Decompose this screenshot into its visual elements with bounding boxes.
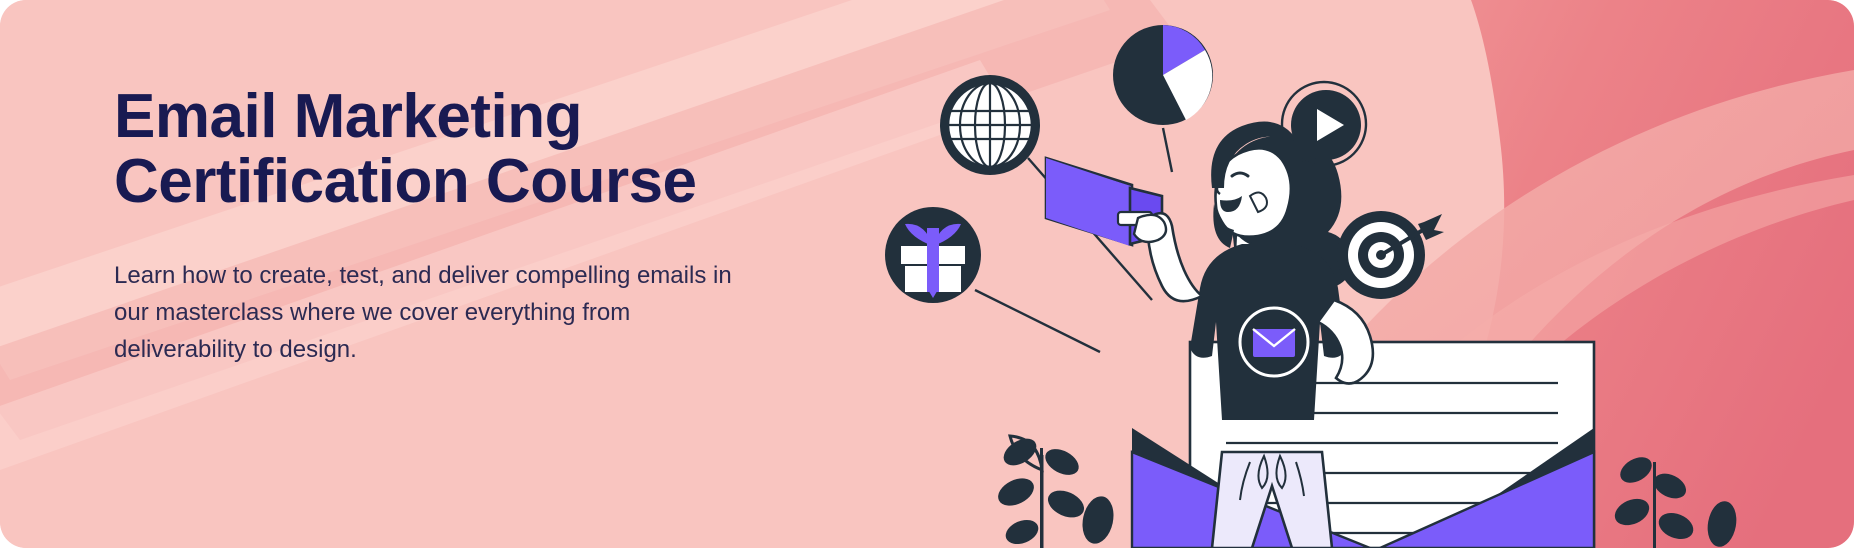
play-button-icon [1282,82,1366,166]
hero-illustration [794,0,1854,548]
target-icon [1337,211,1444,299]
leaves-right [1611,452,1740,548]
gift-icon [885,207,981,303]
course-banner: Email Marketing Certification Course Lea… [0,0,1854,548]
banner-copy: Email Marketing Certification Course Lea… [114,84,814,368]
page-title: Email Marketing Certification Course [114,84,814,214]
banner-description: Learn how to create, test, and deliver c… [114,258,754,368]
globe-icon [940,75,1040,175]
pie-chart-icon [1113,25,1213,125]
leaves-left [994,433,1118,548]
